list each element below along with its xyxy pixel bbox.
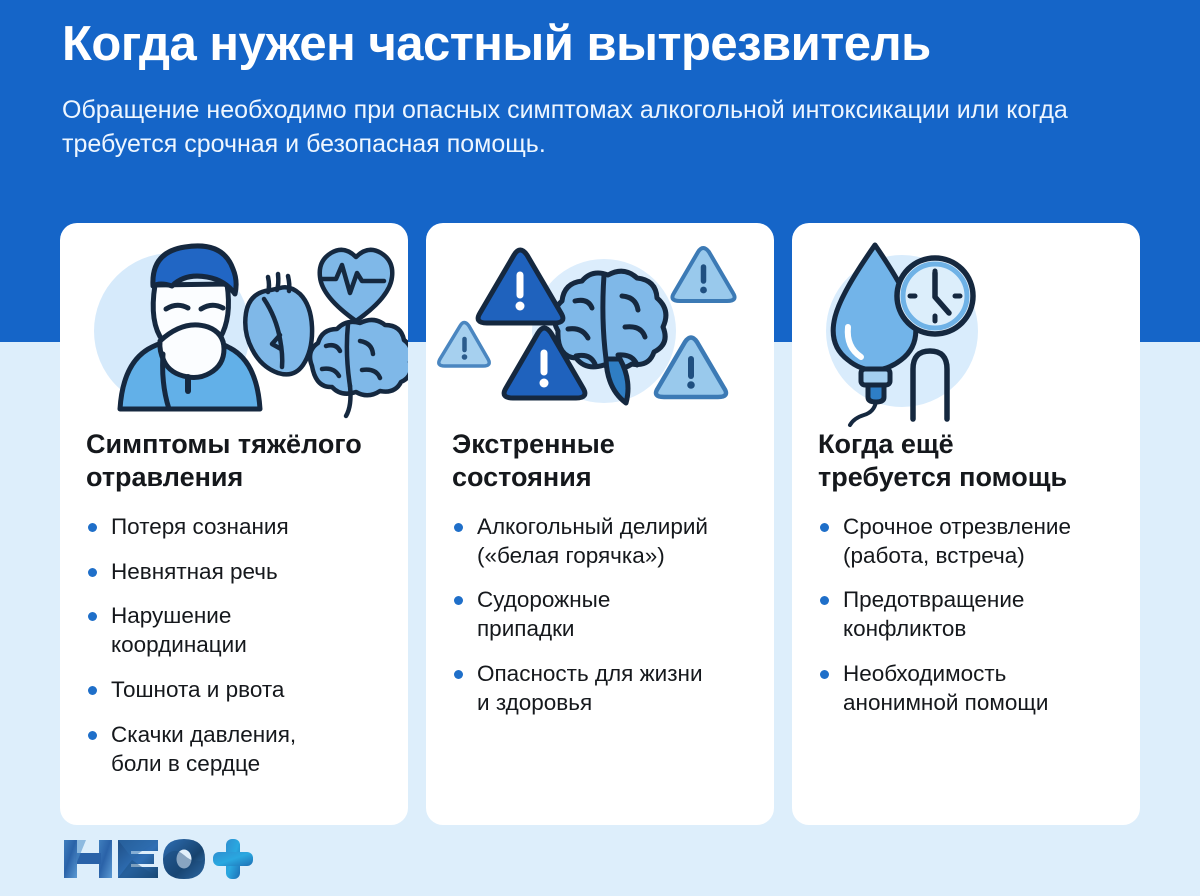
anatomical-heart-icon	[245, 274, 312, 374]
list-item: Алкогольный делирий («белая горячка»)	[452, 513, 750, 571]
card-title: Экстренные состояния	[452, 428, 750, 494]
list-item: Предотвращение конфликтов	[818, 586, 1116, 644]
bullet-list: Алкогольный делирий («белая горячка») Су…	[452, 513, 750, 718]
iv-drip-clock-illustration	[792, 223, 1140, 428]
list-item: Судорожные припадки	[452, 586, 750, 644]
clock-icon	[897, 258, 973, 334]
warning-triangle-icon	[672, 248, 734, 301]
cards-row: Симптомы тяжёлого отравления Потеря созн…	[60, 223, 1140, 825]
list-item: Срочное отрезвление (работа, встреча)	[818, 513, 1116, 571]
card-title: Симптомы тяжёлого отравления	[86, 428, 384, 494]
card-title: Когда ещё требуется помощь	[818, 428, 1116, 494]
page-title: Когда нужен частный вытрезвитель	[62, 18, 1142, 71]
warning-triangle-icon	[439, 323, 489, 367]
list-item: Тошнота и рвота	[86, 676, 384, 705]
header-content: Когда нужен частный вытрезвитель Обращен…	[62, 18, 1142, 162]
sick-man-heart-brain-illustration	[60, 223, 408, 428]
card-body: Симптомы тяжёлого отравления Потеря созн…	[60, 428, 408, 778]
bullet-list: Потеря сознания Невнятная речь Нарушение…	[86, 513, 384, 779]
list-item: Нарушение координации	[86, 602, 384, 660]
card-body: Когда ещё требуется помощь Срочное отрез…	[792, 428, 1140, 718]
logo-plus-sign	[213, 839, 253, 879]
infographic-page: Когда нужен частный вытрезвитель Обращен…	[0, 0, 1200, 896]
list-item: Необходимость анонимной помощи	[818, 660, 1116, 718]
card-emergency-conditions: Экстренные состояния Алкогольный делирий…	[426, 223, 774, 825]
logo-letter-N	[64, 840, 112, 878]
card-when-else-help-needed: Когда ещё требуется помощь Срочное отрез…	[792, 223, 1140, 825]
list-item: Потеря сознания	[86, 513, 384, 542]
logo-letter-O	[163, 839, 205, 879]
list-item: Невнятная речь	[86, 558, 384, 587]
page-subtitle: Обращение необходимо при опасных симптом…	[62, 93, 1072, 162]
brand-logo	[62, 836, 272, 880]
card-body: Экстренные состояния Алкогольный делирий…	[426, 428, 774, 718]
card-severe-poisoning-symptoms: Симптомы тяжёлого отравления Потеря созн…	[60, 223, 408, 825]
list-item: Скачки давления, боли в сердце	[86, 721, 384, 779]
heart-pulse-icon	[320, 250, 393, 321]
list-item: Опасность для жизни и здоровья	[452, 660, 750, 718]
logo-letter-E	[118, 840, 158, 878]
brain-warning-triangles-illustration	[426, 223, 774, 428]
bullet-list: Срочное отрезвление (работа, встреча) Пр…	[818, 513, 1116, 718]
brain-icon	[310, 320, 408, 416]
neo-plus-logo-icon	[62, 836, 272, 882]
